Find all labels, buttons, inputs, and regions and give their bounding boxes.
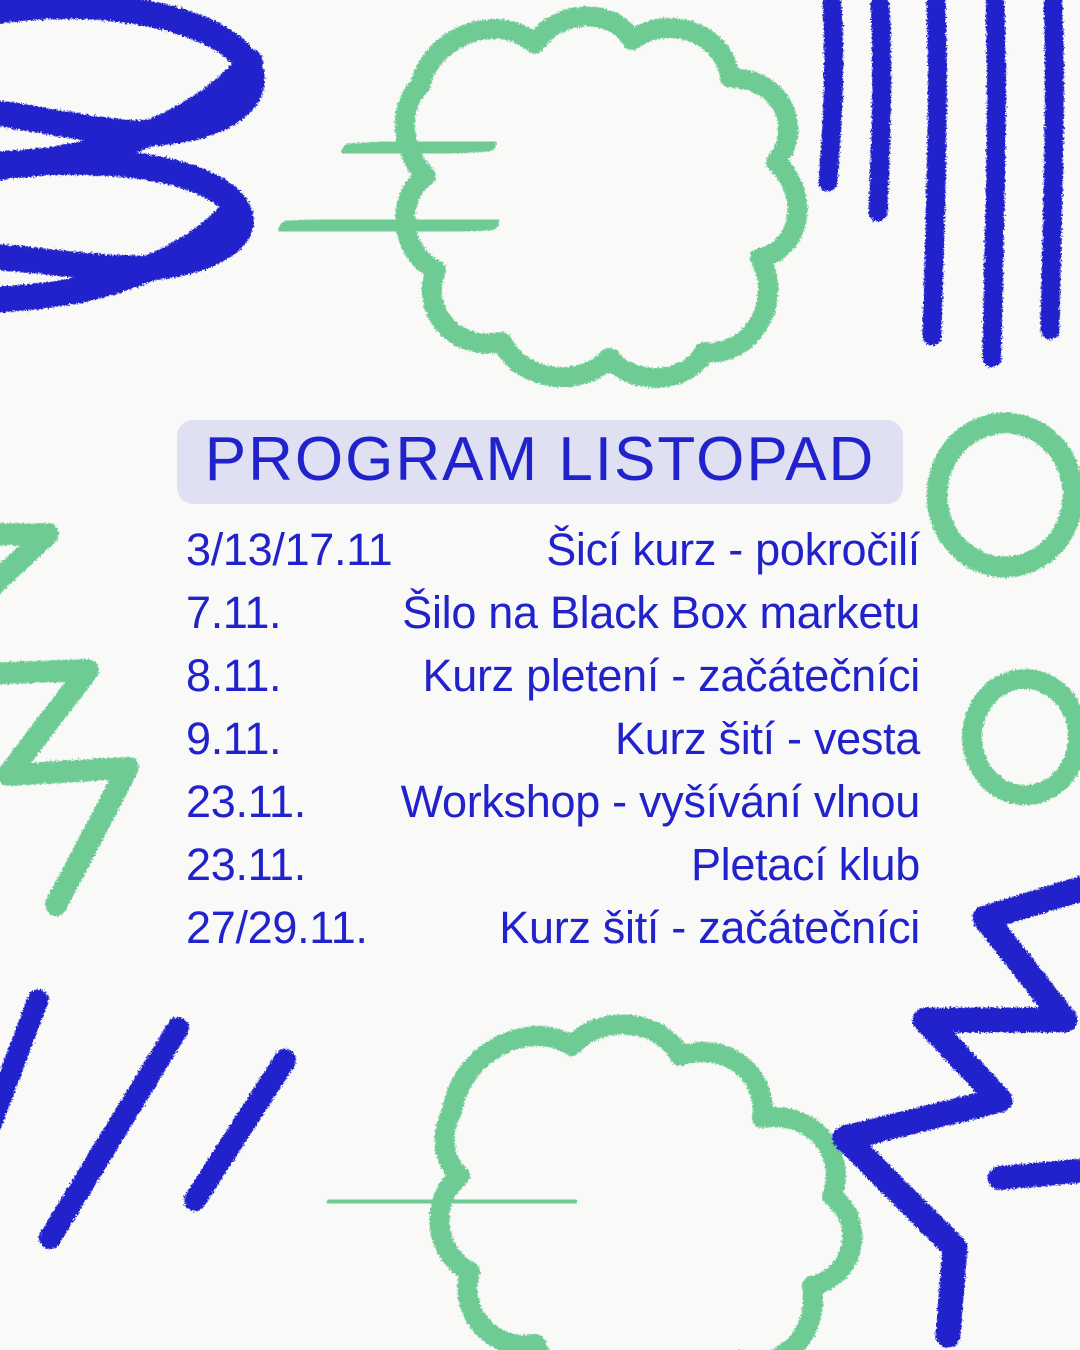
page-title-wrapper: PROGRAM LISTOPAD <box>0 420 1080 504</box>
program-row-event: Kurz šití - začátečníci <box>499 902 920 954</box>
program-row-date: 23.11. <box>186 776 306 828</box>
poster-canvas: PROGRAM LISTOPAD 3/13/17.11 Šicí kurz - … <box>0 0 1080 1350</box>
program-row: 8.11. Kurz pletení - začátečníci <box>186 650 920 713</box>
content-layer: PROGRAM LISTOPAD 3/13/17.11 Šicí kurz - … <box>0 0 1080 1350</box>
program-row: 23.11. Pletací klub <box>186 839 920 902</box>
page-title: PROGRAM LISTOPAD <box>205 425 876 494</box>
program-row: 3/13/17.11 Šicí kurz - pokročilí <box>186 524 920 587</box>
program-row-date: 27/29.11. <box>186 902 368 954</box>
program-row-event: Workshop - vyšívání vlnou <box>401 776 920 828</box>
program-row-event: Kurz pletení - začátečníci <box>423 650 920 702</box>
program-row-date: 8.11. <box>186 650 281 702</box>
program-row-event: Kurz šití - vesta <box>615 713 920 765</box>
program-row: 9.11. Kurz šití - vesta <box>186 713 920 776</box>
program-row: 7.11. Šilo na Black Box marketu <box>186 587 920 650</box>
program-row: 27/29.11. Kurz šití - začátečníci <box>186 902 920 965</box>
program-row-date: 7.11. <box>186 587 281 639</box>
program-row-event: Šilo na Black Box marketu <box>402 587 920 639</box>
program-row-date: 9.11. <box>186 713 281 765</box>
program-row-date: 3/13/17.11 <box>186 524 392 576</box>
program-row-date: 23.11. <box>186 839 306 891</box>
page-title-badge: PROGRAM LISTOPAD <box>177 420 904 504</box>
program-row-event: Šicí kurz - pokročilí <box>546 524 920 576</box>
program-row: 23.11. Workshop - vyšívání vlnou <box>186 776 920 839</box>
program-row-event: Pletací klub <box>691 839 920 891</box>
program-list: 3/13/17.11 Šicí kurz - pokročilí 7.11. Š… <box>186 524 920 965</box>
